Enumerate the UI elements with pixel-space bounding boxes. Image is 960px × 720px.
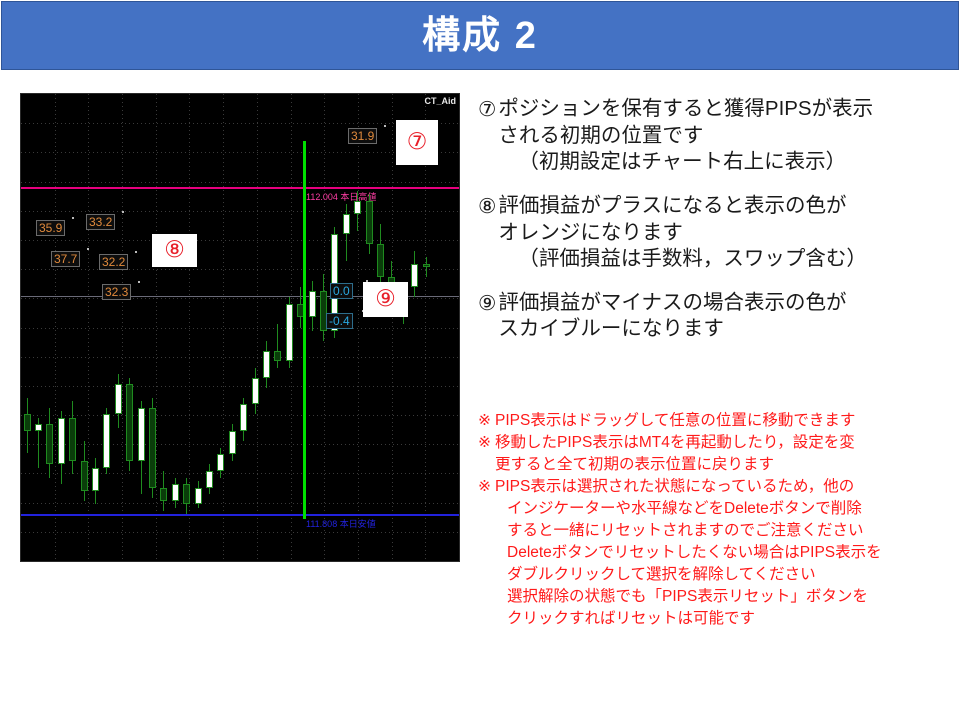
pips-chip-loss[interactable]: 0.0 <box>330 283 353 299</box>
description-item: ⑧評価損益がプラスになると表示の色がオレンジになります（評価損益は手数料，スワッ… <box>478 193 954 273</box>
description-item-marker: ⑨ <box>478 290 496 343</box>
description-item: ⑦ポジションを保有すると獲得PIPSが表示される初期の位置です（初期設定はチャー… <box>478 96 954 176</box>
pips-chip-anchor-dot <box>72 217 74 219</box>
callout-badge: ⑨ <box>363 282 408 317</box>
pips-chip-loss[interactable]: -0.4 <box>326 313 353 329</box>
description-line: 評価損益がマイナスの場合表示の色が <box>498 290 954 317</box>
caution-note-line: すると一緒にリセットされますのでご注意ください <box>495 520 958 542</box>
gridline-vertical <box>257 94 258 561</box>
candle-body <box>286 304 293 361</box>
pips-chip-anchor-dot <box>138 281 140 283</box>
gridline-horizontal <box>21 386 459 387</box>
pips-chip-anchor-dot <box>384 125 386 127</box>
caution-note-text: 移動したPIPS表示はMT4を再起動したり，設定を変更すると全て初期の表示位置に… <box>495 432 958 476</box>
gridline-horizontal <box>21 182 459 183</box>
candle-body <box>35 424 42 431</box>
candle-body <box>354 201 361 214</box>
description-item: ⑨評価損益がマイナスの場合表示の色がスカイブルーになります <box>478 290 954 343</box>
gridline-horizontal <box>21 211 459 212</box>
candle-body <box>343 214 350 234</box>
pips-chip-anchor-dot <box>135 251 137 253</box>
candle-body <box>149 408 156 488</box>
gridline-vertical <box>223 94 224 561</box>
candle-body <box>411 264 418 287</box>
description-line: 評価損益がプラスになると表示の色が <box>498 193 954 220</box>
gridline-horizontal <box>21 444 459 445</box>
candle-body <box>274 351 281 361</box>
callout-number: ⑦ <box>407 131 428 154</box>
candle-body <box>217 454 224 471</box>
caution-note-line: PIPS表示は選択された状態になっているため，他の <box>495 476 958 498</box>
gridline-horizontal <box>21 240 459 241</box>
candle-body <box>92 468 99 491</box>
caution-note-marker: ※ <box>478 476 491 630</box>
gridline-vertical <box>88 94 89 561</box>
caution-note-line: ダブルクリックして選択を解除してください <box>495 564 958 586</box>
pips-chip-profit[interactable]: 32.3 <box>102 284 131 300</box>
candle-body <box>252 378 259 404</box>
candle-body <box>240 404 247 431</box>
gridline-horizontal <box>21 328 459 329</box>
candle-body <box>24 414 31 431</box>
caution-note-line: 移動したPIPS表示はMT4を再起動したり，設定を変 <box>495 432 958 454</box>
caution-notes-list: ※PIPS表示はドラッグして任意の位置に移動できます※移動したPIPS表示はMT… <box>478 410 958 630</box>
candle-body <box>183 484 190 504</box>
callout-number: ⑧ <box>164 239 185 262</box>
caution-note: ※移動したPIPS表示はMT4を再起動したり，設定を変更すると全て初期の表示位置… <box>478 432 958 476</box>
caution-note-text: PIPS表示はドラッグして任意の位置に移動できます <box>495 410 958 432</box>
caution-note-line: 更すると全て初期の表示位置に戻ります <box>495 454 958 476</box>
candle-body <box>103 414 110 468</box>
gridline-horizontal <box>21 269 459 270</box>
candle-body <box>69 418 76 461</box>
candle-body <box>309 291 316 317</box>
caution-note-marker: ※ <box>478 432 491 476</box>
candle-body <box>172 484 179 501</box>
candle-body <box>206 471 213 488</box>
description-line: （初期設定はチャート右上に表示） <box>498 149 954 176</box>
description-item-marker: ⑧ <box>478 193 496 273</box>
day-low-line <box>21 514 459 516</box>
candle-body <box>81 461 88 491</box>
description-list: ⑦ポジションを保有すると獲得PIPSが表示される初期の位置です（初期設定はチャー… <box>478 96 954 360</box>
header-banner: 構成 2 <box>1 1 959 70</box>
chart-panel[interactable]: 112.004 本日高値 111.808 本日安値 31.935.933.237… <box>20 93 460 562</box>
gridline-vertical <box>156 94 157 561</box>
description-item-text: ポジションを保有すると獲得PIPSが表示される初期の位置です（初期設定はチャート… <box>498 96 954 176</box>
callout-number: ⑨ <box>375 288 396 311</box>
chart-indicator-label: CT_Aid <box>425 96 457 106</box>
pips-chip-profit[interactable]: 37.7 <box>51 251 80 267</box>
day-high-line <box>21 187 459 189</box>
candle-wick <box>426 257 427 277</box>
caution-note-line: インジケーターや水平線などをDeleteボタンで削除 <box>495 498 958 520</box>
caution-note-marker: ※ <box>478 410 491 432</box>
candle-body <box>423 264 430 267</box>
day-low-label: 111.808 本日安値 <box>306 517 376 530</box>
gridline-horizontal <box>21 532 459 533</box>
caution-note-line: クリックすればリセットは可能です <box>495 608 958 630</box>
entry-marker-line <box>303 141 306 519</box>
candle-body <box>115 384 122 414</box>
pips-chip-profit[interactable]: 32.2 <box>99 254 128 270</box>
caution-note: ※PIPS表示は選択された状態になっているため，他のインジケーターや水平線などを… <box>478 476 958 630</box>
caution-note: ※PIPS表示はドラッグして任意の位置に移動できます <box>478 410 958 432</box>
description-item-text: 評価損益がマイナスの場合表示の色がスカイブルーになります <box>498 290 954 343</box>
caution-note-line: PIPS表示はドラッグして任意の位置に移動できます <box>495 410 958 432</box>
description-line: オレンジになります <box>498 220 954 247</box>
pips-chip-profit[interactable]: 35.9 <box>36 220 65 236</box>
candle-body <box>229 431 236 454</box>
gridline-horizontal <box>21 123 459 124</box>
caution-note-line: Deleteボタンでリセットしたくない場合はPIPS表示を <box>495 542 958 564</box>
description-item-marker: ⑦ <box>478 96 496 176</box>
gridline-vertical <box>122 94 123 561</box>
pips-chip-profit[interactable]: 31.9 <box>348 128 377 144</box>
pips-chip-anchor-dot <box>122 211 124 213</box>
description-line: される初期の位置です <box>498 123 954 150</box>
pips-chip-profit[interactable]: 33.2 <box>86 214 115 230</box>
candle-body <box>366 201 373 244</box>
candle-body <box>377 244 384 277</box>
gridline-vertical <box>358 94 359 561</box>
gridline-vertical <box>55 94 56 561</box>
gridline-horizontal <box>21 357 459 358</box>
gridline-vertical <box>392 94 393 561</box>
pips-chip-anchor-dot <box>87 248 89 250</box>
candle-body <box>46 424 53 464</box>
callout-badge: ⑧ <box>152 234 197 267</box>
gridline-horizontal <box>21 503 459 504</box>
description-line: スカイブルーになります <box>498 316 954 343</box>
caution-note-text: PIPS表示は選択された状態になっているため，他のインジケーターや水平線などをD… <box>495 476 958 630</box>
candle-body <box>58 418 65 464</box>
gridline-horizontal <box>21 152 459 153</box>
candle-body <box>160 488 167 501</box>
description-line: （評価損益は手数料，スワップ含む） <box>498 246 954 273</box>
candle-body <box>263 351 270 378</box>
callout-badge: ⑦ <box>396 120 438 165</box>
description-item-text: 評価損益がプラスになると表示の色がオレンジになります（評価損益は手数料，スワップ… <box>498 193 954 273</box>
caution-note-line: 選択解除の状態でも「PIPS表示リセット」ボタンを <box>495 586 958 608</box>
candle-wick <box>277 324 278 368</box>
page-title: 構成 2 <box>422 17 538 55</box>
candle-body <box>126 384 133 461</box>
description-line: ポジションを保有すると獲得PIPSが表示 <box>498 96 954 123</box>
candle-body <box>195 488 202 504</box>
candle-body <box>138 408 145 461</box>
